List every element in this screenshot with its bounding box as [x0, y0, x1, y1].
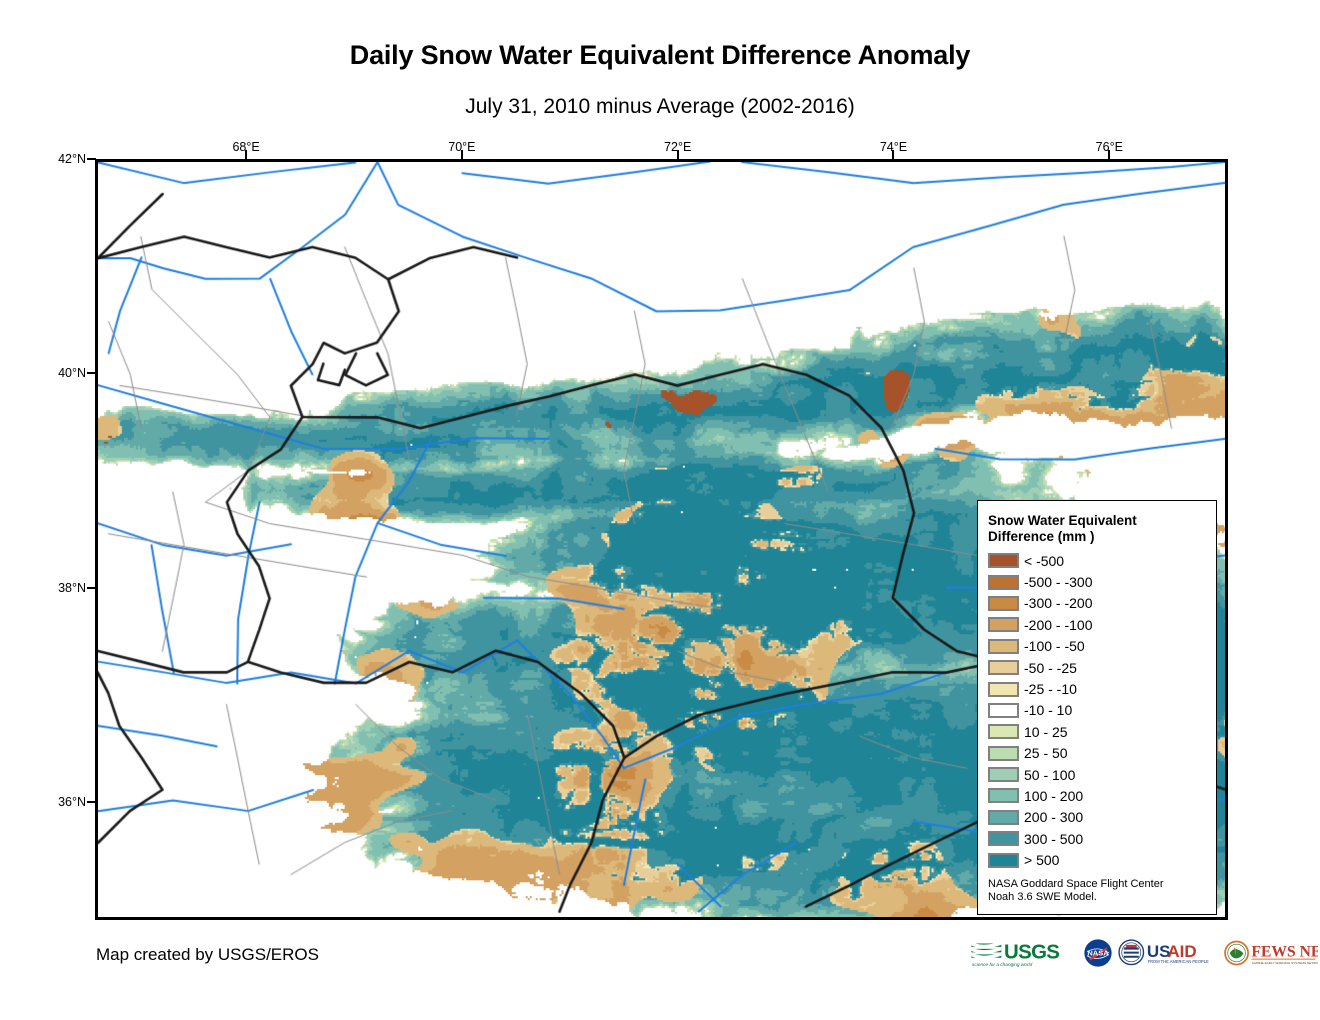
- legend-row: -200 - -100: [988, 614, 1206, 635]
- legend-class-label: -100 - -50: [1024, 638, 1085, 654]
- legend-color-swatch: [988, 788, 1019, 803]
- legend-color-swatch: [988, 810, 1019, 825]
- legend-row: > 500: [988, 849, 1206, 870]
- legend-color-swatch: [988, 639, 1019, 654]
- legend-color-swatch: [988, 682, 1019, 697]
- lat-tick-label: 38°N: [56, 581, 86, 595]
- legend-row: 50 - 100: [988, 764, 1206, 785]
- legend-class-label: -500 - -300: [1024, 574, 1092, 590]
- legend-source-credit: NASA Goddard Space Flight Center Noah 3.…: [988, 878, 1206, 904]
- lon-tick-mark: [892, 150, 894, 159]
- svg-text:FEWS NET: FEWS NET: [1252, 943, 1319, 960]
- legend-class-label: 10 - 25: [1024, 724, 1068, 740]
- legend-title: Snow Water Equivalent Difference (mm ): [988, 513, 1206, 545]
- legend-class-label: -200 - -100: [1024, 617, 1092, 633]
- legend-class-label: 300 - 500: [1024, 831, 1083, 847]
- legend-color-swatch: [988, 553, 1019, 568]
- legend-color-swatch: [988, 831, 1019, 846]
- svg-text:USGS: USGS: [1004, 941, 1059, 963]
- usgs-logo[interactable]: USGS science for a changing world: [970, 938, 1079, 968]
- map-legend: Snow Water Equivalent Difference (mm ) <…: [977, 500, 1217, 915]
- legend-class-label: -300 - -200: [1024, 595, 1092, 611]
- legend-class-label: > 500: [1024, 852, 1059, 868]
- legend-class-label: 200 - 300: [1024, 809, 1083, 825]
- svg-text:FROM THE AMERICAN PEOPLE: FROM THE AMERICAN PEOPLE: [1148, 959, 1209, 964]
- lon-tick-mark: [1108, 150, 1110, 159]
- svg-text:FAMINE EARLY WARNING SYSTEMS N: FAMINE EARLY WARNING SYSTEMS NETWORK: [1252, 961, 1318, 965]
- legend-row: -300 - -200: [988, 593, 1206, 614]
- legend-color-swatch: [988, 853, 1019, 868]
- page-title: Daily Snow Water Equivalent Difference A…: [0, 40, 1320, 71]
- lat-tick-mark: [87, 587, 96, 589]
- lat-tick-label: 42°N: [56, 152, 86, 166]
- svg-text:AID: AID: [1167, 942, 1196, 961]
- legend-row: 100 - 200: [988, 785, 1206, 806]
- lat-tick-label: 36°N: [56, 795, 86, 809]
- legend-color-swatch: [988, 746, 1019, 761]
- legend-class-label: 50 - 100: [1024, 767, 1075, 783]
- legend-row: 25 - 50: [988, 743, 1206, 764]
- legend-color-swatch: [988, 767, 1019, 782]
- legend-row: -50 - -25: [988, 657, 1206, 678]
- lat-tick-label: 40°N: [56, 366, 86, 380]
- lon-tick-mark: [677, 150, 679, 159]
- legend-row: -500 - -300: [988, 571, 1206, 592]
- legend-color-swatch: [988, 703, 1019, 718]
- agency-logo-strip: USGS science for a changing world NASA U…: [970, 936, 1318, 970]
- legend-row: -100 - -50: [988, 636, 1206, 657]
- legend-class-label: 100 - 200: [1024, 788, 1083, 804]
- legend-row: 300 - 500: [988, 828, 1206, 849]
- legend-color-swatch: [988, 596, 1019, 611]
- legend-row: 10 - 25: [988, 721, 1206, 742]
- legend-class-list: < -500-500 - -300-300 - -200-200 - -100-…: [988, 550, 1206, 871]
- legend-color-swatch: [988, 660, 1019, 675]
- svg-text:NASA: NASA: [1087, 949, 1109, 958]
- usaid-logo[interactable]: US AID FROM THE AMERICAN PEOPLE: [1117, 938, 1219, 968]
- legend-row: -10 - 10: [988, 700, 1206, 721]
- legend-class-label: -10 - 10: [1024, 702, 1072, 718]
- lat-tick-mark: [87, 372, 96, 374]
- legend-class-label: < -500: [1024, 553, 1064, 569]
- page-subtitle: July 31, 2010 minus Average (2002-2016): [0, 95, 1320, 119]
- map-author-credit: Map created by USGS/EROS: [96, 945, 319, 965]
- legend-class-label: -50 - -25: [1024, 660, 1077, 676]
- lat-tick-mark: [87, 801, 96, 803]
- lon-tick-mark: [245, 150, 247, 159]
- legend-color-swatch: [988, 617, 1019, 632]
- legend-color-swatch: [988, 575, 1019, 590]
- legend-row: 200 - 300: [988, 807, 1206, 828]
- legend-row: < -500: [988, 550, 1206, 571]
- legend-class-label: 25 - 50: [1024, 745, 1068, 761]
- svg-text:science for a changing world: science for a changing world: [972, 962, 1033, 968]
- fewsnet-logo[interactable]: FEWS NET FAMINE EARLY WARNING SYSTEMS NE…: [1223, 938, 1318, 968]
- legend-class-label: -25 - -10: [1024, 681, 1077, 697]
- legend-color-swatch: [988, 724, 1019, 739]
- lat-tick-mark: [87, 158, 96, 160]
- legend-row: -25 - -10: [988, 678, 1206, 699]
- nasa-logo[interactable]: NASA: [1083, 938, 1113, 968]
- lon-tick-mark: [461, 150, 463, 159]
